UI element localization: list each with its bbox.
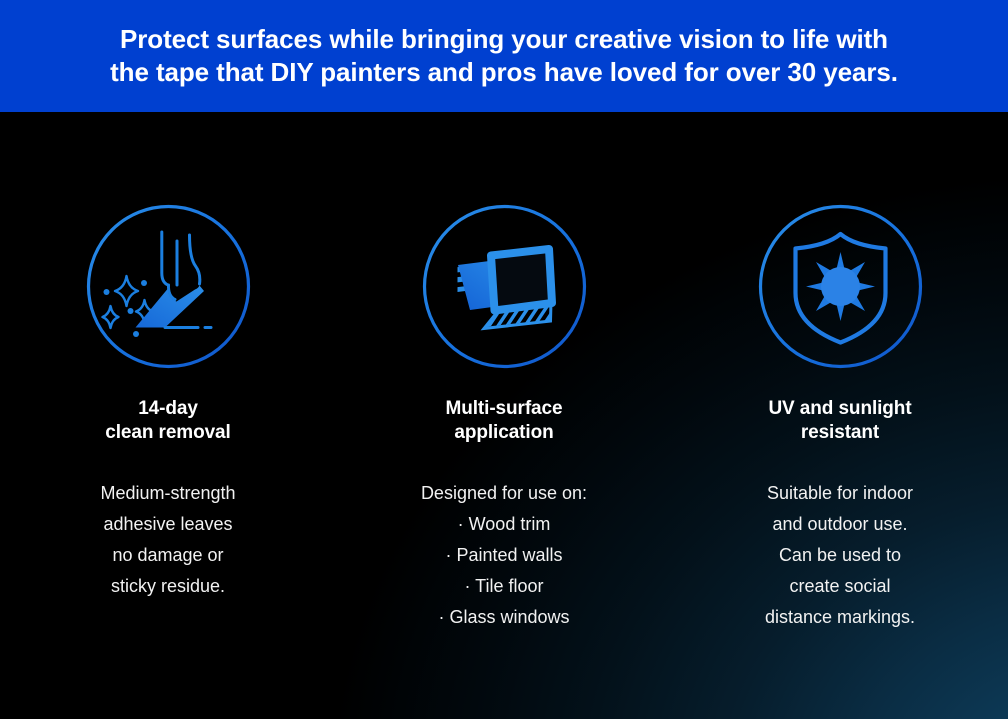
shield-sun-uv-icon	[757, 203, 924, 370]
promo-feature-panel: Protect surfaces while bringing your cre…	[0, 0, 1008, 719]
feature-body-uv-resistant: Suitable for indoor and outdoor use. Can…	[765, 478, 915, 633]
body-line-1: Medium-strength	[100, 478, 235, 509]
header-line-1: Protect surfaces while bringing your cre…	[54, 23, 954, 56]
header-banner: Protect surfaces while bringing your cre…	[0, 0, 1008, 112]
heading-line-1: Multi-surface	[446, 397, 563, 421]
body-line-2: adhesive leaves	[100, 509, 235, 540]
heading-line-1: 14-day	[105, 397, 230, 421]
feature-heading-uv-resistant: UV and sunlight resistant	[768, 397, 911, 444]
feature-body-clean-removal: Medium-strength adhesive leaves no damag…	[100, 478, 235, 602]
stacked-surfaces-layers-icon	[421, 203, 588, 370]
header-tagline: Protect surfaces while bringing your cre…	[54, 23, 954, 89]
body-line-1: Suitable for indoor	[765, 478, 915, 509]
heading-line-2: application	[446, 421, 563, 445]
feature-heading-clean-removal: 14-day clean removal	[105, 397, 230, 444]
hand-peel-tape-sparkle-icon	[85, 203, 252, 370]
feature-column-uv-resistant: UV and sunlight resistant Suitable for i…	[672, 112, 1008, 633]
feature-body-multi-surface: Designed for use on: · Wood trim · Paint…	[421, 478, 587, 633]
feature-column-clean-removal: 14-day clean removal Medium-strength adh…	[0, 112, 336, 602]
body-line-1: Designed for use on:	[421, 478, 587, 509]
body-line-4: sticky residue.	[100, 571, 235, 602]
heading-line-2: resistant	[768, 421, 911, 445]
list-item: · Wood trim	[421, 509, 587, 540]
header-line-2: the tape that DIY painters and pros have…	[54, 56, 954, 89]
list-item: · Painted walls	[421, 540, 587, 571]
body-line-3: no damage or	[100, 540, 235, 571]
body-line-3: Can be used to	[765, 540, 915, 571]
feature-column-multi-surface: Multi-surface application Designed for u…	[336, 112, 672, 633]
heading-line-2: clean removal	[105, 421, 230, 445]
body-line-5: distance markings.	[765, 602, 915, 633]
heading-line-1: UV and sunlight	[768, 397, 911, 421]
body-line-4: create social	[765, 571, 915, 602]
feature-columns: 14-day clean removal Medium-strength adh…	[0, 112, 1008, 719]
list-item: · Tile floor	[421, 571, 587, 602]
body-line-2: and outdoor use.	[765, 509, 915, 540]
feature-heading-multi-surface: Multi-surface application	[446, 397, 563, 444]
list-item: · Glass windows	[421, 602, 587, 633]
